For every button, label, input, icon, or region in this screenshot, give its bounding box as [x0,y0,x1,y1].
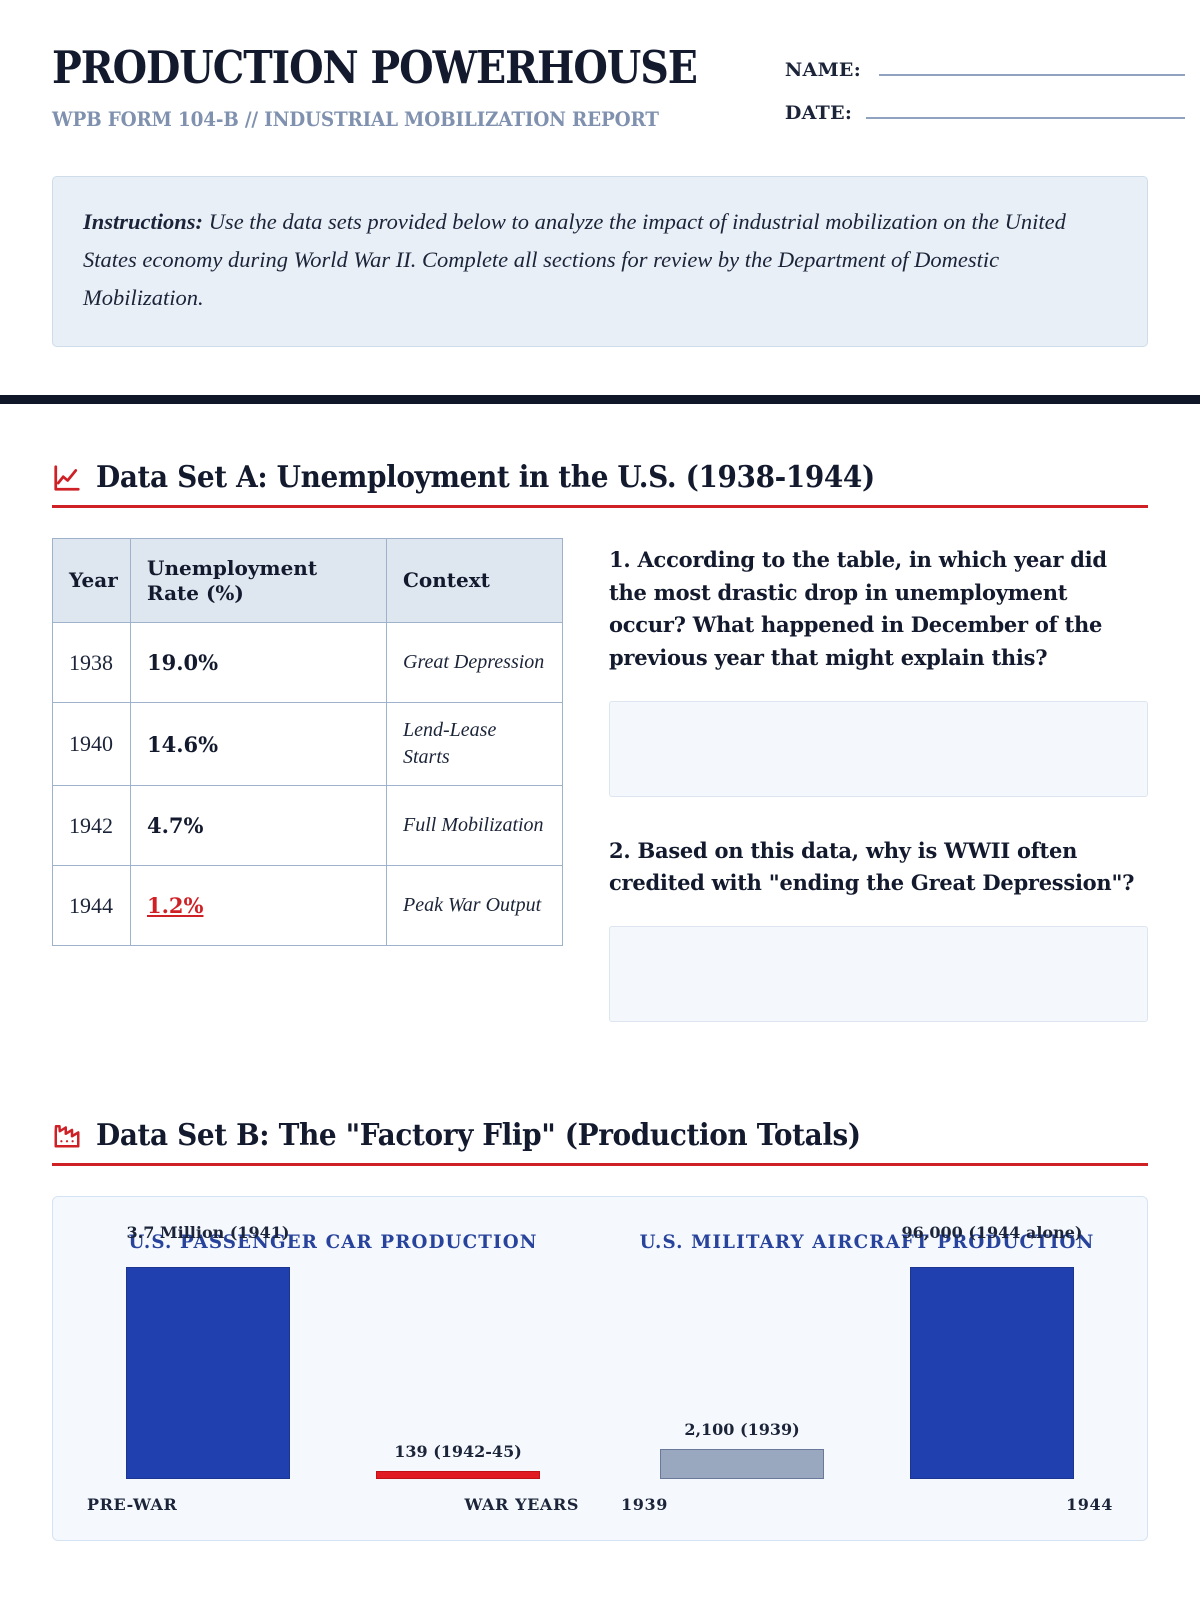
chart-passenger-car-production: U.S. PASSENGER CAR PRODUCTION 3.7 Millio… [83,1231,583,1514]
page-title: PRODUCTION POWERHOUSE [52,44,697,91]
section-b-header: Data Set B: The "Factory Flip" (Producti… [52,1118,1148,1166]
axis-label-1944: 1944 [1066,1495,1113,1514]
production-charts-panel: U.S. PASSENGER CAR PRODUCTION 3.7 Millio… [52,1196,1148,1541]
bar-1939 [660,1449,824,1479]
chart-military-aircraft-production: U.S. MILITARY AIRCRAFT PRODUCTION 2,100 … [617,1231,1117,1514]
cell-rate-highlighted: 1.2% [131,866,387,946]
cell-rate: 4.7% [131,786,387,866]
factory-icon [52,1120,82,1150]
axis-label-1939: 1939 [621,1495,668,1514]
title-block: PRODUCTION POWERHOUSE WPB FORM 104-B // … [52,44,785,131]
table-row: 1938 19.0% Great Depression [53,623,563,703]
table-header-row: Year Unemployment Rate (%) Context [53,539,563,623]
date-label: DATE: [785,102,852,124]
bar-value-label-1a: 3.7 Million (1941) [127,1223,290,1242]
line-chart-icon [52,463,82,493]
chart-2-axis-labels: 1939 1944 [617,1495,1117,1514]
bar-value-label-1b: 139 (1942-45) [394,1442,522,1461]
section-b-title: Data Set B: The "Factory Flip" (Producti… [96,1118,861,1153]
section-divider [0,395,1200,404]
bar-value-label-2a: 2,100 (1939) [684,1420,799,1439]
table-row: 1940 14.6% Lend-Lease Starts [53,703,563,786]
name-label: NAME: [785,59,861,81]
worksheet-page: PRODUCTION POWERHOUSE WPB FORM 104-B // … [0,0,1200,1541]
cell-year: 1940 [53,703,131,786]
unemployment-table-wrap: Year Unemployment Rate (%) Context 1938 … [52,538,563,946]
column-header-rate: Unemployment Rate (%) [131,539,387,623]
unemployment-table: Year Unemployment Rate (%) Context 1938 … [52,538,563,946]
question-block-2: 2. Based on this data, why is WWII often… [609,835,1148,1022]
bar-pre-war [126,1267,290,1479]
cell-context: Great Depression [387,623,563,703]
cell-year: 1944 [53,866,131,946]
cell-rate: 14.6% [131,703,387,786]
column-header-context: Context [387,539,563,623]
answer-box-1[interactable] [609,701,1148,797]
instructions-lead: Instructions: [83,209,203,234]
name-field-row: NAME: [785,58,1185,81]
chart-1-axis-labels: PRE-WAR WAR YEARS [83,1495,583,1514]
question-text-1: 1. According to the table, in which year… [609,544,1148,674]
cell-year: 1942 [53,786,131,866]
date-input[interactable] [866,101,1185,119]
name-input[interactable] [879,58,1185,76]
bar-value-label-2b: 96,000 (1944 alone) [902,1223,1083,1242]
axis-label-pre-war: PRE-WAR [87,1495,177,1514]
date-field-row: DATE: [785,101,1185,124]
question-block-1: 1. According to the table, in which year… [609,544,1148,796]
section-a-title: Data Set A: Unemployment in the U.S. (19… [96,460,875,495]
instructions-box: Instructions: Use the data sets provided… [52,176,1148,347]
column-header-year: Year [53,539,131,623]
section-data-set-a: Data Set A: Unemployment in the U.S. (19… [52,460,1148,1021]
bar-column-1944: 96,000 (1944 alone) [910,1267,1074,1479]
page-header: PRODUCTION POWERHOUSE WPB FORM 104-B // … [52,0,1148,144]
chart-1-plot: 3.7 Million (1941) 139 (1942-45) [83,1267,583,1479]
bar-column-war-years: 139 (1942-45) [376,1267,540,1479]
cell-context: Lend-Lease Starts [387,703,563,786]
bar-column-1939: 2,100 (1939) [660,1267,824,1479]
section-data-set-b: Data Set B: The "Factory Flip" (Producti… [52,1118,1148,1541]
instructions-text: Instructions: Use the data sets provided… [83,203,1117,316]
table-row: 1944 1.2% Peak War Output [53,866,563,946]
questions-column: 1. According to the table, in which year… [609,538,1148,1021]
bar-column-pre-war: 3.7 Million (1941) [126,1267,290,1479]
cell-context: Peak War Output [387,866,563,946]
form-fields: NAME: DATE: [785,44,1185,144]
instructions-body: Use the data sets provided below to anal… [83,209,1066,310]
answer-box-2[interactable] [609,926,1148,1022]
question-text-2: 2. Based on this data, why is WWII often… [609,835,1148,900]
axis-label-war-years: WAR YEARS [464,1495,579,1514]
cell-context: Full Mobilization [387,786,563,866]
section-a-body: Year Unemployment Rate (%) Context 1938 … [52,538,1148,1021]
table-row: 1942 4.7% Full Mobilization [53,786,563,866]
chart-2-plot: 2,100 (1939) 96,000 (1944 alone) [617,1267,1117,1479]
page-subtitle: WPB FORM 104-B // INDUSTRIAL MOBILIZATIO… [52,107,726,131]
cell-rate: 19.0% [131,623,387,703]
cell-year: 1938 [53,623,131,703]
bar-war-years [376,1471,540,1479]
section-a-header: Data Set A: Unemployment in the U.S. (19… [52,460,1148,508]
bar-1944 [910,1267,1074,1479]
